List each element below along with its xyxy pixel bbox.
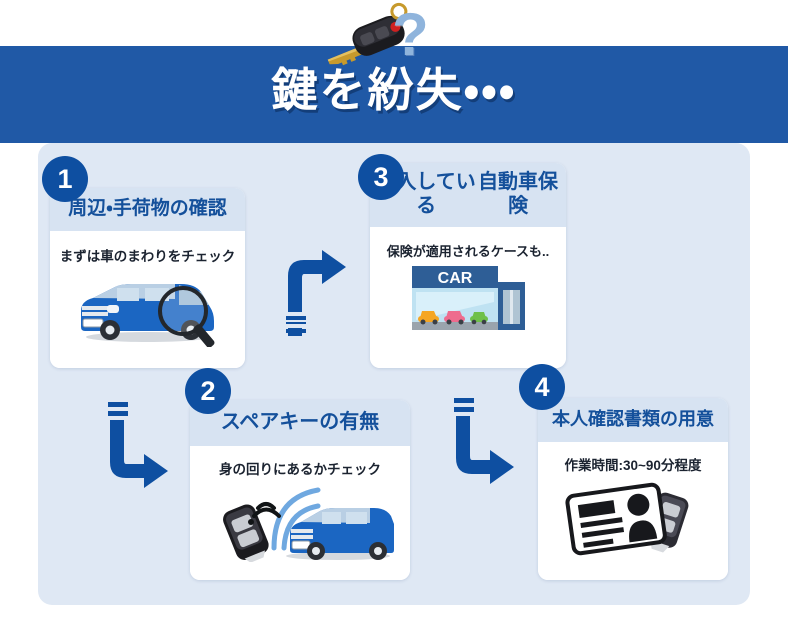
question-mark-icon: ? — [392, 5, 429, 65]
step-badge-4: 4 — [519, 364, 565, 410]
step-badge-1: 1 — [42, 156, 88, 202]
car-with-magnifier-illustration — [63, 265, 233, 347]
step-body-1: まずは車のまわりをチェック — [50, 231, 245, 368]
step-card-1[interactable]: 周辺・手荷物の確認 まずは車のまわりをチェック — [50, 188, 245, 368]
step-badge-2: 2 — [185, 368, 231, 414]
step-title-3-line2: 自動車保険 — [476, 171, 560, 218]
arrow-step1-to-step3-icon — [282, 250, 348, 336]
step-description-1: まずは車のまわりをチェック — [60, 245, 236, 265]
step-card-4[interactable]: 本人確認書類の用意 作業時間:30~90分程度 — [538, 398, 728, 580]
id-card-and-keyfob-illustration — [558, 474, 708, 562]
step-description-2: 身の回りにあるかチェック — [219, 458, 381, 478]
car-dealership-illustration: CAR — [406, 260, 531, 342]
step-body-4: 作業時間:30~90分程度 — [538, 442, 728, 580]
dealership-sign-text: CAR — [437, 270, 472, 287]
step-card-3[interactable]: 加入している 自動車保険 保険が適用されるケースも.. CAR — [370, 163, 566, 368]
step-card-2[interactable]: スペアキーの有無 身の回りにあるかチェック — [190, 400, 410, 580]
arrow-step1-to-step2-icon — [104, 402, 170, 488]
step-title-4: 本人確認書類の用意 — [538, 398, 728, 442]
step-body-2: 身の回りにあるかチェック — [190, 446, 410, 580]
step-body-3: 保険が適用されるケースも.. CAR — [370, 227, 566, 368]
keyfob-signal-car-illustration — [206, 478, 394, 562]
arrow-step3-to-step4-icon — [450, 398, 516, 484]
step-description-4: 作業時間:30~90分程度 — [565, 454, 702, 474]
infographic-root: ? 鍵を紛失・・・ 1 周辺・手荷物の確認 まずは車のまわりをチェック — [0, 0, 788, 640]
page-title: 鍵を紛失・・・ — [0, 62, 788, 118]
step-badge-3: 3 — [358, 154, 404, 200]
step-description-3: 保険が適用されるケースも.. — [387, 241, 550, 260]
